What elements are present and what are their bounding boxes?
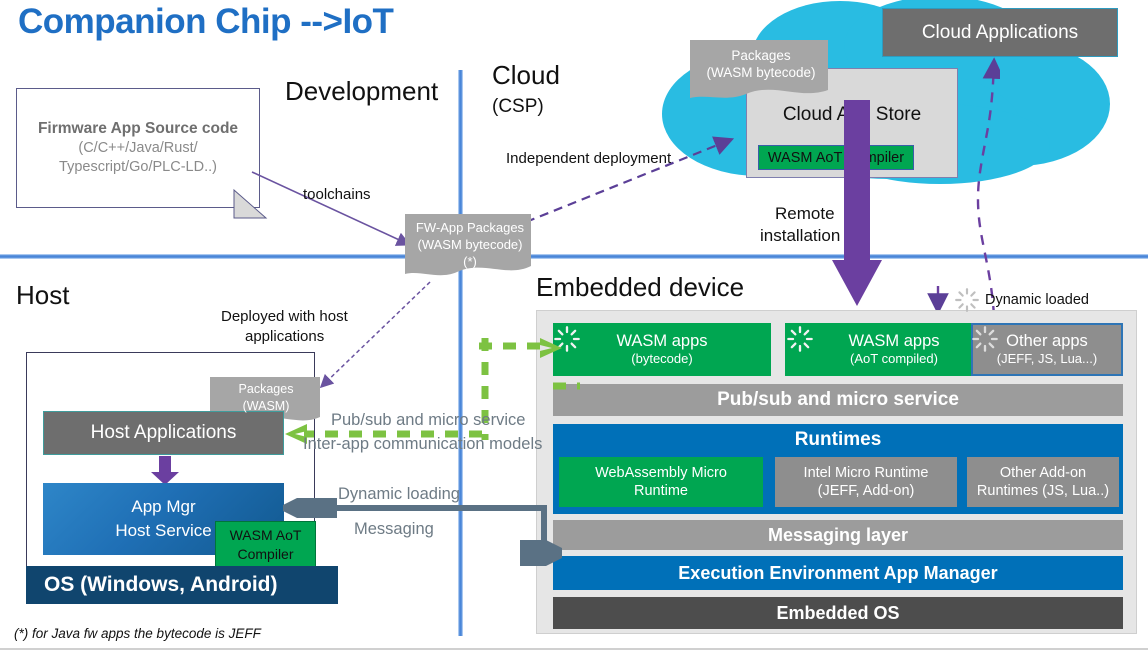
firmware-source-title: Firmware App Source code xyxy=(38,119,238,139)
page-title: Companion Chip -->IoT xyxy=(18,2,393,42)
embedded-app-0-sub: (bytecode) xyxy=(631,351,692,367)
cloud-packages-line1: Packages xyxy=(688,47,834,64)
embedded-pubsub-band: Pub/sub and micro service xyxy=(553,384,1123,416)
remote-installation-arrow xyxy=(832,100,884,320)
embedded-runtime-1-line2: (JEFF, Add-on) xyxy=(804,482,929,500)
section-subheading-cloud: (CSP) xyxy=(492,96,544,118)
independent-deployment-arrow xyxy=(522,132,742,228)
firmware-source-line1: (C/C++/Java/Rust/ xyxy=(78,139,197,158)
loading-spinner-icon xyxy=(786,325,814,353)
embedded-runtimes-title: Runtimes xyxy=(553,424,1123,451)
label-dynamic-loaded: Dynamic loaded xyxy=(985,292,1089,308)
embedded-app-2-sub: (JEFF, JS, Lua...) xyxy=(997,351,1097,367)
embedded-runtime-2-line2: Runtimes (JS, Lua..) xyxy=(977,482,1109,500)
green-dashed-horizontal-top xyxy=(479,340,549,352)
app-manager-line2: Host Service xyxy=(115,519,211,543)
fw-app-packages-line3: (*) xyxy=(403,253,537,270)
embedded-device-panel: WASM apps (bytecode) WASM apps (AoT comp… xyxy=(536,310,1137,634)
firmware-source-box: Firmware App Source code (C/C++/Java/Rus… xyxy=(16,88,260,208)
fw-app-packages-banner-text: FW-App Packages (WASM bytecode) (*) xyxy=(403,212,537,270)
section-heading-host: Host xyxy=(16,280,69,311)
label-remote-installation-1: Remote xyxy=(775,204,835,224)
bottom-rule xyxy=(0,648,1148,650)
embedded-app-1-name: WASM apps xyxy=(848,332,939,351)
host-os-label: OS (Windows, Android) xyxy=(44,573,278,597)
host-packages-line1: Packages xyxy=(208,381,324,398)
host-os-box: OS (Windows, Android) xyxy=(26,566,338,604)
label-independent-deployment: Independent deployment xyxy=(506,150,671,167)
fw-app-packages-line2: (WASM bytecode) xyxy=(403,236,537,253)
section-heading-development: Development xyxy=(285,76,438,107)
fw-app-packages-line1: FW-App Packages xyxy=(403,219,537,236)
host-applications-box[interactable]: Host Applications xyxy=(43,411,284,455)
device-to-cloud-dashed-arrow xyxy=(920,52,1000,320)
host-wasm-aot-compiler[interactable]: WASM AoT Compiler xyxy=(215,521,316,568)
embedded-exec-env-label: Execution Environment App Manager xyxy=(678,563,997,584)
embedded-runtime-wasm-micro[interactable]: WebAssembly Micro Runtime xyxy=(559,457,763,507)
embedded-pubsub-label: Pub/sub and micro service xyxy=(717,389,959,411)
embedded-runtime-0-line2: Runtime xyxy=(595,482,727,500)
cloud-packages-line2: (WASM bytecode) xyxy=(688,64,834,81)
cloud-applications-label: Cloud Applications xyxy=(922,22,1078,44)
firmware-source-line2: Typescript/Go/PLC-LD..) xyxy=(59,158,217,177)
label-deployed-with-host-1: Deployed with host xyxy=(221,308,348,325)
embedded-app-0-name: WASM apps xyxy=(616,332,707,351)
embedded-runtime-intel-micro[interactable]: Intel Micro Runtime (JEFF, Add-on) xyxy=(775,457,957,507)
embedded-runtime-other-addon[interactable]: Other Add-on Runtimes (JS, Lua..) xyxy=(967,457,1119,507)
toolchains-arrow xyxy=(248,168,424,256)
embedded-app-1-sub: (AoT compiled) xyxy=(850,351,938,367)
label-toolchains: toolchains xyxy=(303,186,371,203)
embedded-app-2-name: Other apps xyxy=(1006,332,1088,351)
host-wasm-aot-line1: WASM AoT xyxy=(230,526,302,545)
embedded-runtime-2-line1: Other Add-on xyxy=(977,464,1109,482)
label-inter-app-models: Inter-app communication models xyxy=(303,435,542,454)
embedded-runtime-0-line1: WebAssembly Micro xyxy=(595,464,727,482)
loading-spinner-icon xyxy=(971,325,999,353)
embedded-messaging-band: Messaging layer xyxy=(553,520,1123,550)
label-remote-installation-2: installation xyxy=(760,226,840,246)
embedded-exec-env-band: Execution Environment App Manager xyxy=(553,556,1123,590)
label-dynamic-loading: Dynamic loading xyxy=(338,485,460,504)
label-messaging: Messaging xyxy=(354,520,434,539)
host-packages-banner-text: Packages (WASM) xyxy=(208,375,324,415)
embedded-messaging-label: Messaging layer xyxy=(768,525,908,546)
messaging-arrow-head xyxy=(520,540,562,566)
cloud-applications-box[interactable]: Cloud Applications xyxy=(882,8,1118,57)
app-manager-line1: App Mgr xyxy=(131,495,195,519)
cloud-packages-banner-text: Packages (WASM bytecode) xyxy=(688,38,834,81)
host-internal-down-arrow xyxy=(150,456,180,486)
embedded-os-band: Embedded OS xyxy=(553,597,1123,629)
footnote: (*) for Java fw apps the bytecode is JEF… xyxy=(14,626,261,641)
section-heading-embedded: Embedded device xyxy=(536,272,744,303)
embedded-app-tile-wasm-bytecode[interactable]: WASM apps (bytecode) xyxy=(553,323,771,376)
embedded-os-label: Embedded OS xyxy=(776,603,899,624)
host-wasm-aot-line2: Compiler xyxy=(237,545,293,564)
loading-spinner-legend-icon xyxy=(954,287,980,313)
slide-canvas: Companion Chip -->IoT Development Cloud … xyxy=(0,0,1148,653)
host-applications-label: Host Applications xyxy=(91,422,237,444)
section-heading-cloud: Cloud xyxy=(492,60,560,91)
label-pubsub-micro-service: Pub/sub and micro service xyxy=(331,411,525,430)
embedded-runtime-1-line1: Intel Micro Runtime xyxy=(804,464,929,482)
host-packages-line2: (WASM) xyxy=(208,398,324,415)
